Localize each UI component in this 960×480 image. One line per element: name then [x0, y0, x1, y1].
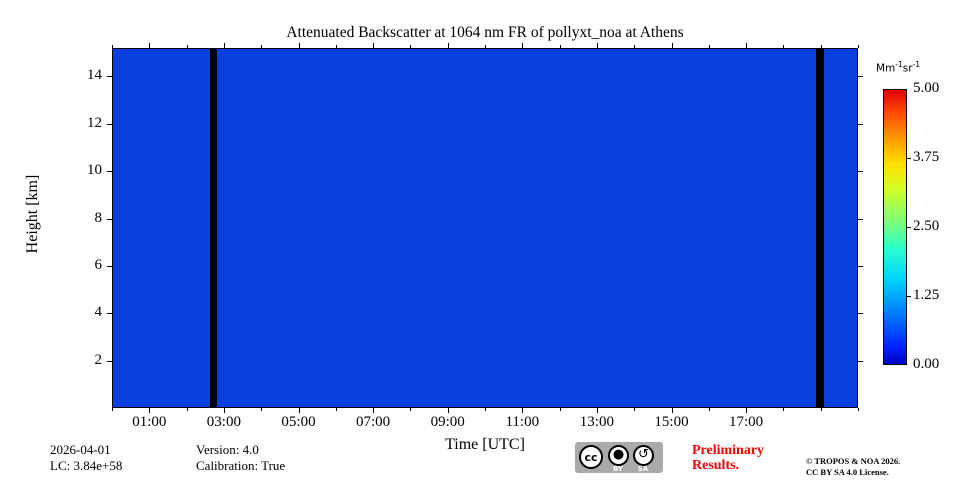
- x-axis-tick: [448, 408, 449, 413]
- colorbar-unit-exp2: -1: [913, 60, 920, 69]
- y-axis-tick-label: 4: [60, 304, 102, 321]
- x-axis-minor-tick: [709, 45, 710, 48]
- x-axis-minor-tick: [821, 408, 822, 411]
- x-axis-tick-label: 15:00: [637, 414, 707, 431]
- x-axis-tick-label: 05:00: [264, 414, 334, 431]
- y-axis-tick: [107, 361, 112, 362]
- x-axis-minor-tick: [112, 408, 113, 411]
- footer-lidar-constant: LC: 3.84e+58: [50, 458, 122, 474]
- y-axis-tick: [107, 171, 112, 172]
- x-axis-tick: [672, 408, 673, 413]
- x-axis-minor-tick: [783, 408, 784, 411]
- x-axis-tick: [522, 408, 523, 413]
- heatmap-data-layer: [113, 49, 857, 407]
- x-axis-minor-tick: [485, 408, 486, 411]
- colorbar-tick-label: 3.75: [913, 149, 939, 166]
- x-axis-tick-label: 03:00: [189, 414, 259, 431]
- x-axis-minor-tick: [858, 408, 859, 411]
- y-axis-tick-label: 12: [60, 115, 102, 132]
- x-axis-minor-tick: [709, 408, 710, 411]
- x-axis-tick: [522, 43, 523, 48]
- x-axis-tick: [299, 408, 300, 413]
- x-axis-minor-tick: [560, 45, 561, 48]
- colorbar-tick-label: 5.00: [913, 80, 939, 97]
- heatmap-plot-area[interactable]: [112, 48, 858, 408]
- x-axis-tick: [224, 408, 225, 413]
- cc-by-glyph-icon: ●: [608, 445, 629, 465]
- data-gap-column: [816, 49, 823, 407]
- footer-version: Version: 4.0: [196, 442, 259, 458]
- y-axis-tick: [107, 313, 112, 314]
- x-axis-tick-label: 09:00: [413, 414, 483, 431]
- colorbar-tick: [907, 158, 911, 159]
- x-axis-tick: [149, 408, 150, 413]
- y-axis-tick: [858, 124, 863, 125]
- y-axis-label: Height [km]: [24, 134, 42, 294]
- x-axis-minor-tick: [336, 45, 337, 48]
- copyright-line-2: CC BY SA 4.0 License.: [806, 467, 900, 478]
- y-axis-tick-label: 2: [60, 352, 102, 369]
- x-axis-tick-label: 07:00: [338, 414, 408, 431]
- x-axis-tick: [373, 408, 374, 413]
- x-axis-minor-tick: [485, 45, 486, 48]
- data-gap-column: [210, 49, 217, 407]
- y-axis-tick-label: 14: [60, 67, 102, 84]
- x-axis-minor-tick: [858, 45, 859, 48]
- x-axis-tick: [597, 43, 598, 48]
- colorbar-tick: [907, 227, 911, 228]
- x-axis-minor-tick: [187, 408, 188, 411]
- y-axis-tick-label: 6: [60, 257, 102, 274]
- x-axis-tick-label: 17:00: [711, 414, 781, 431]
- x-axis-minor-tick: [336, 408, 337, 411]
- y-axis-tick-label: 10: [60, 162, 102, 179]
- x-axis-minor-tick: [783, 45, 784, 48]
- cc-by-label: BY: [607, 465, 629, 473]
- y-axis-tick-label: 8: [60, 210, 102, 227]
- cc-sa-label: SA: [632, 465, 654, 473]
- colorbar-unit-sr: sr: [903, 63, 913, 75]
- x-axis-tick: [224, 43, 225, 48]
- creative-commons-badge[interactable]: cc ● ↺ BY SA: [575, 442, 663, 473]
- x-axis-minor-tick: [187, 45, 188, 48]
- y-axis-tick: [858, 219, 863, 220]
- x-axis-tick-label: 01:00: [114, 414, 184, 431]
- x-axis-minor-tick: [112, 45, 113, 48]
- x-axis-tick: [746, 43, 747, 48]
- preliminary-results-notice: Preliminary Results.: [692, 443, 764, 473]
- x-axis-minor-tick: [821, 45, 822, 48]
- colorbar-tick-label: 2.50: [913, 218, 939, 235]
- cc-logo-icon: cc: [579, 445, 603, 469]
- copyright-notice: © TROPOS & NOA 2026. CC BY SA 4.0 Licens…: [806, 456, 900, 478]
- x-axis-tick: [299, 43, 300, 48]
- x-axis-tick: [149, 43, 150, 48]
- colorbar-gradient[interactable]: [883, 89, 907, 365]
- x-axis-tick-label: 13:00: [562, 414, 632, 431]
- colorbar-unit-label: Mm-1sr-1: [876, 60, 920, 75]
- y-axis-tick: [107, 124, 112, 125]
- x-axis-minor-tick: [634, 408, 635, 411]
- x-axis-tick: [448, 43, 449, 48]
- y-axis-tick: [107, 76, 112, 77]
- footer-date: 2026-04-01: [50, 442, 111, 458]
- x-axis-minor-tick: [634, 45, 635, 48]
- x-axis-tick-label: 11:00: [487, 414, 557, 431]
- colorbar-tick: [907, 296, 911, 297]
- preliminary-line-2: Results.: [692, 458, 764, 473]
- y-axis-tick: [107, 266, 112, 267]
- colorbar-tick-label: 0.00: [913, 356, 939, 373]
- copyright-line-1: © TROPOS & NOA 2026.: [806, 456, 900, 467]
- preliminary-line-1: Preliminary: [692, 443, 764, 458]
- x-axis-minor-tick: [410, 45, 411, 48]
- x-axis-tick: [373, 43, 374, 48]
- x-axis-minor-tick: [261, 408, 262, 411]
- x-axis-tick: [746, 408, 747, 413]
- colorbar-tick-label: 1.25: [913, 287, 939, 304]
- page-title: Attenuated Backscatter at 1064 nm FR of …: [112, 24, 858, 42]
- x-axis-tick: [597, 408, 598, 413]
- y-axis-tick: [858, 76, 863, 77]
- x-axis-minor-tick: [261, 45, 262, 48]
- y-axis-tick: [858, 313, 863, 314]
- y-axis-tick: [107, 219, 112, 220]
- y-axis-tick: [858, 361, 863, 362]
- colorbar-unit-exp1: -1: [895, 60, 902, 69]
- footer-calibration: Calibration: True: [196, 458, 285, 474]
- colorbar-unit-mm: Mm: [876, 63, 895, 75]
- cc-sa-glyph-icon: ↺: [633, 445, 654, 465]
- y-axis-tick: [858, 171, 863, 172]
- x-axis-minor-tick: [410, 408, 411, 411]
- x-axis-tick: [672, 43, 673, 48]
- y-axis-tick: [858, 266, 863, 267]
- x-axis-minor-tick: [560, 408, 561, 411]
